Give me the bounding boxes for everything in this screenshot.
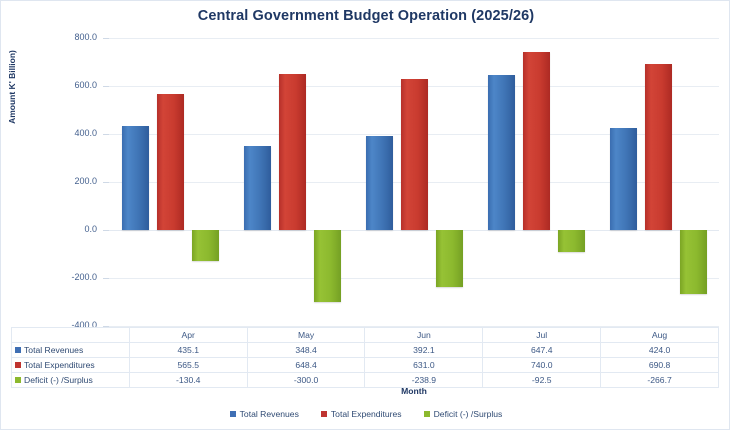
data-table-series-name: Total Expenditures bbox=[24, 360, 95, 370]
legend-label: Total Expenditures bbox=[331, 409, 402, 419]
y-axis-title: Amount K' Billion) bbox=[7, 27, 17, 147]
data-table-head: AprMayJunJulAug bbox=[12, 328, 719, 343]
bar-aug-total-revenues[interactable] bbox=[610, 128, 637, 230]
data-table-cell: 690.8 bbox=[601, 358, 719, 373]
y-axis-tick-label: 200.0 bbox=[41, 176, 97, 186]
data-table-cell: 648.4 bbox=[247, 358, 365, 373]
data-table-row: Total Expenditures565.5648.4631.0740.069… bbox=[12, 358, 719, 373]
bar-jul-total-revenues[interactable] bbox=[488, 75, 515, 230]
data-table-row-label: Total Revenues bbox=[12, 343, 130, 358]
data-table-series-name: Total Revenues bbox=[24, 345, 83, 355]
data-table-row-label: Total Expenditures bbox=[12, 358, 130, 373]
y-axis-tick-mark bbox=[103, 134, 109, 135]
bar-jul-deficit-surplus[interactable] bbox=[558, 230, 585, 252]
data-table-column-header: Aug bbox=[601, 328, 719, 343]
legend-swatch-deficit-icon bbox=[15, 377, 21, 383]
bar-apr-total-revenues[interactable] bbox=[122, 126, 149, 230]
bar-jun-total-expenditures[interactable] bbox=[401, 79, 428, 230]
data-table-body: Total Revenues435.1348.4392.1647.4424.0T… bbox=[12, 343, 719, 388]
bar-may-deficit-surplus[interactable] bbox=[314, 230, 341, 302]
chart-container: Central Government Budget Operation (202… bbox=[0, 0, 730, 430]
y-axis-tick-mark bbox=[103, 278, 109, 279]
data-table-cell: 348.4 bbox=[247, 343, 365, 358]
bar-jun-total-revenues[interactable] bbox=[366, 136, 393, 230]
x-axis-title: Month bbox=[109, 386, 719, 396]
y-axis-tick-mark bbox=[103, 182, 109, 183]
data-table-row: Total Revenues435.1348.4392.1647.4424.0 bbox=[12, 343, 719, 358]
y-axis-tick-mark bbox=[103, 230, 109, 231]
data-table-column-header: Jul bbox=[483, 328, 601, 343]
legend-swatch-icon bbox=[424, 411, 430, 417]
legend-item[interactable]: Total Revenues bbox=[230, 409, 299, 419]
data-table-cell: 424.0 bbox=[601, 343, 719, 358]
legend-swatch-expenditures-icon bbox=[15, 362, 21, 368]
data-table-cell: 631.0 bbox=[365, 358, 483, 373]
data-table-cell: 435.1 bbox=[129, 343, 247, 358]
data-table-column-header: May bbox=[247, 328, 365, 343]
plot-area bbox=[109, 38, 719, 326]
legend-label: Total Revenues bbox=[240, 409, 299, 419]
data-table-corner-cell bbox=[12, 328, 130, 343]
data-table-column-header: Jun bbox=[365, 328, 483, 343]
data-table-cell: 740.0 bbox=[483, 358, 601, 373]
y-axis-tick-mark bbox=[103, 86, 109, 87]
y-axis-tick-label: -200.0 bbox=[41, 272, 97, 282]
data-table-cell: 392.1 bbox=[365, 343, 483, 358]
data-table-cell: 647.4 bbox=[483, 343, 601, 358]
chart-data-table: AprMayJunJulAug Total Revenues435.1348.4… bbox=[11, 327, 719, 388]
legend-swatch-revenues-icon bbox=[15, 347, 21, 353]
legend-label: Deficit (-) /Surplus bbox=[434, 409, 503, 419]
legend-swatch-icon bbox=[321, 411, 327, 417]
y-axis-tick-label: 0.0 bbox=[41, 224, 97, 234]
legend-item[interactable]: Total Expenditures bbox=[321, 409, 402, 419]
gridline bbox=[109, 278, 719, 279]
data-table-cell: 565.5 bbox=[129, 358, 247, 373]
data-table-header-row: AprMayJunJulAug bbox=[12, 328, 719, 343]
bar-may-total-expenditures[interactable] bbox=[279, 74, 306, 230]
bar-apr-deficit-surplus[interactable] bbox=[192, 230, 219, 261]
y-axis-tick-mark bbox=[103, 326, 109, 327]
y-axis-tick-labels: 800.0600.0400.0200.00.0-200.0-400.0 bbox=[41, 38, 103, 326]
bar-aug-deficit-surplus[interactable] bbox=[680, 230, 707, 294]
y-axis-tick-label: 400.0 bbox=[41, 128, 97, 138]
y-axis-tick-label: 800.0 bbox=[41, 32, 97, 42]
bar-jul-total-expenditures[interactable] bbox=[523, 52, 550, 230]
data-table-series-name: Deficit (-) /Surplus bbox=[24, 375, 93, 385]
bar-apr-total-expenditures[interactable] bbox=[157, 94, 184, 230]
y-axis-tick-mark bbox=[103, 38, 109, 39]
bar-jun-deficit-surplus[interactable] bbox=[436, 230, 463, 287]
legend-item[interactable]: Deficit (-) /Surplus bbox=[424, 409, 503, 419]
y-axis-tick-label: 600.0 bbox=[41, 80, 97, 90]
chart-legend: Total RevenuesTotal ExpendituresDeficit … bbox=[1, 409, 730, 419]
data-table-column-header: Apr bbox=[129, 328, 247, 343]
gridline bbox=[109, 38, 719, 39]
bar-may-total-revenues[interactable] bbox=[244, 146, 271, 230]
bar-aug-total-expenditures[interactable] bbox=[645, 64, 672, 230]
chart-title: Central Government Budget Operation (202… bbox=[1, 8, 730, 24]
legend-swatch-icon bbox=[230, 411, 236, 417]
